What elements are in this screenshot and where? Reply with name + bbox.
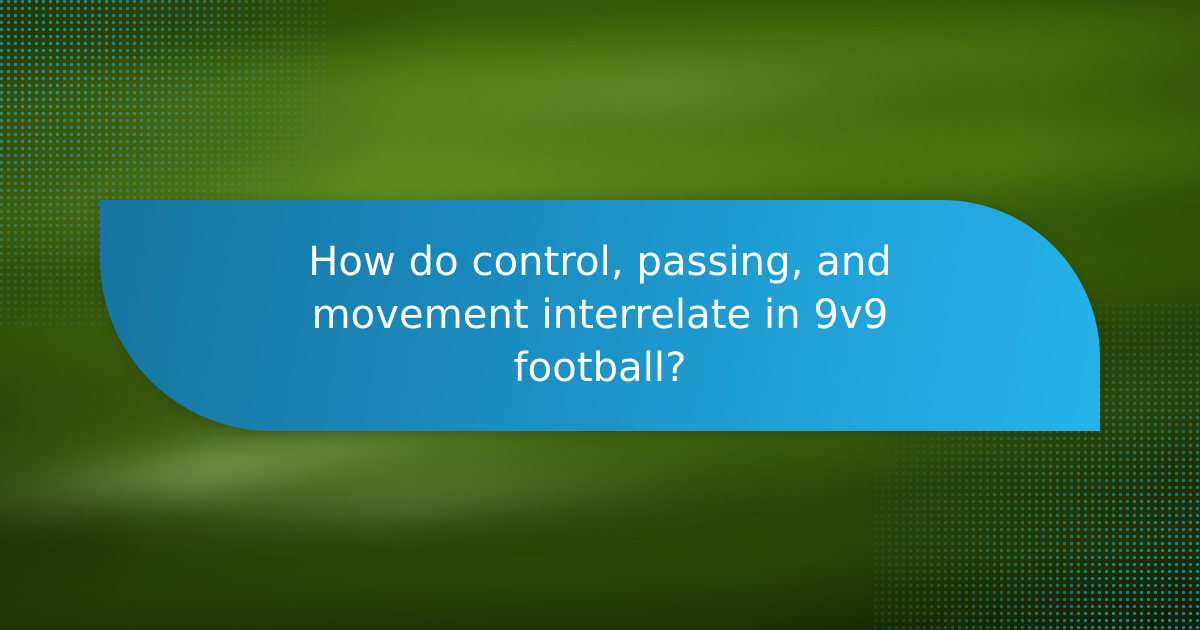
social-card-canvas: How do control, passing, and movement in…	[0, 0, 1200, 630]
title-banner: How do control, passing, and movement in…	[100, 200, 1100, 431]
page-title: How do control, passing, and movement in…	[190, 236, 1010, 396]
